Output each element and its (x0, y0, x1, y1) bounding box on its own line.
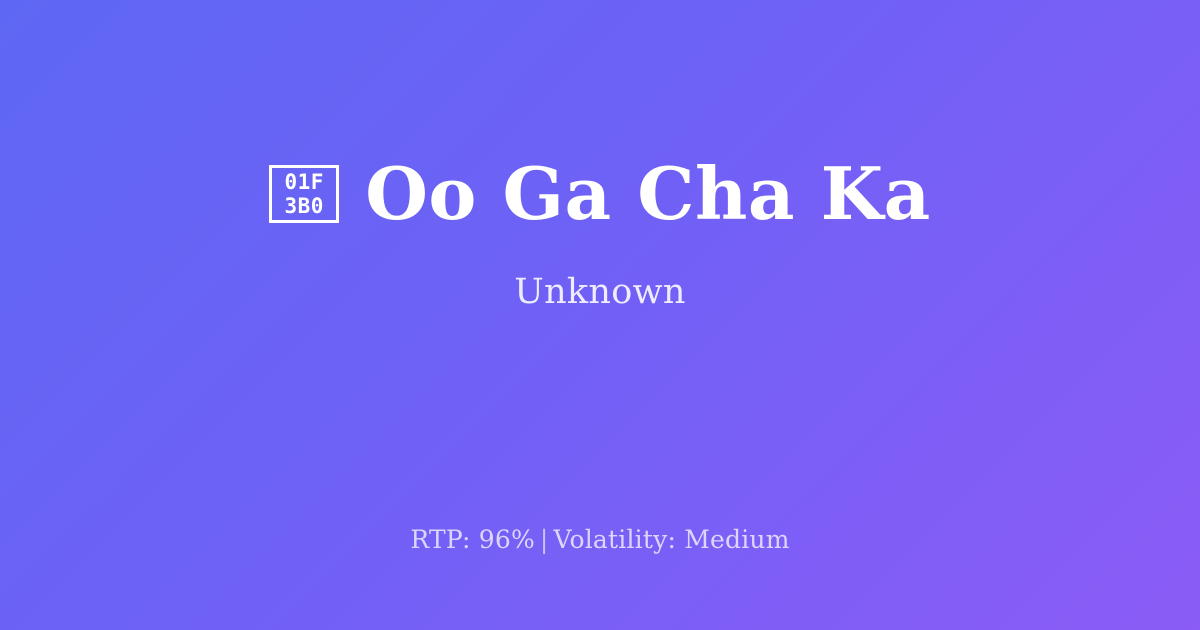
hero-block: 01F 3B0 Oo Ga Cha Ka Unknown (0, 0, 1200, 470)
game-meta: RTP: 96%|Volatility: Medium (0, 524, 1200, 556)
volatility-value: Volatility: Medium (554, 525, 790, 554)
codepoint-line-2: 3B0 (284, 194, 323, 218)
slot-machine-icon: 01F 3B0 (269, 165, 339, 223)
page-title: Oo Ga Cha Ka (365, 157, 931, 230)
meta-separator: | (535, 525, 554, 554)
codepoint-line-1: 01F (284, 170, 323, 194)
rtp-value: RTP: 96% (410, 525, 535, 554)
title-row: 01F 3B0 Oo Ga Cha Ka (269, 157, 931, 230)
game-og-card: 01F 3B0 Oo Ga Cha Ka Unknown RTP: 96%|Vo… (0, 0, 1200, 630)
provider-name: Unknown (514, 271, 685, 313)
